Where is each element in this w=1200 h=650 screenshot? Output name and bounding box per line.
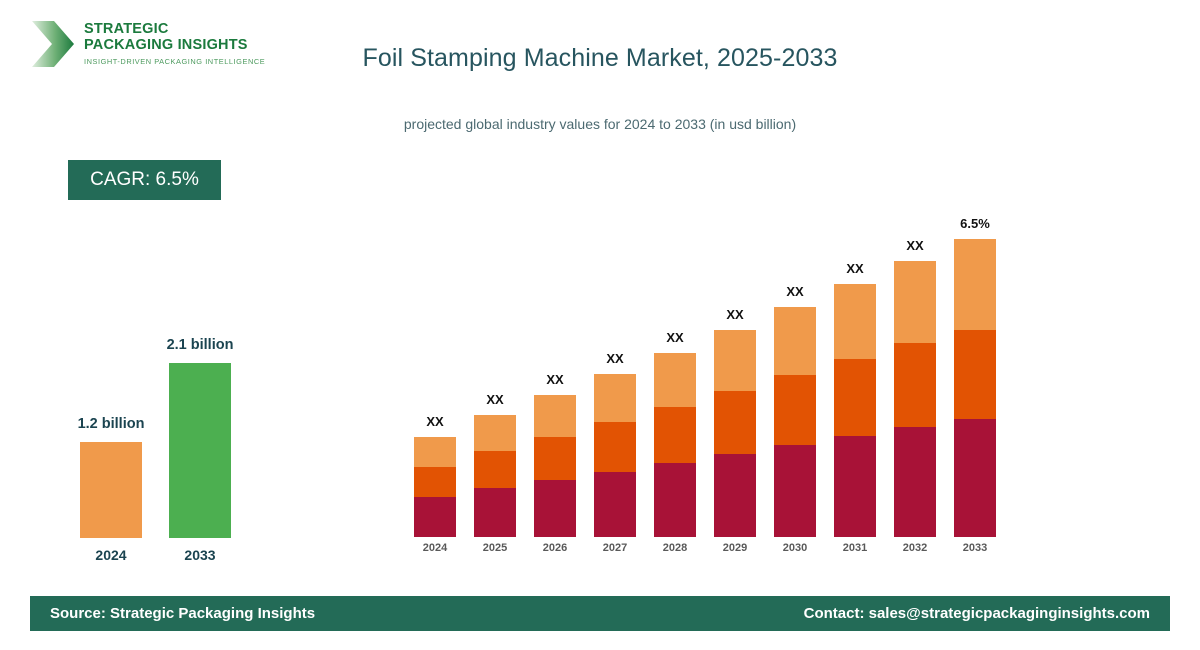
stacked-bar-column: XX: [585, 351, 645, 537]
stacked-bar-segment-mid: [654, 407, 696, 463]
stacked-bar-stack: [834, 284, 876, 537]
stacked-bar-column: XX: [765, 284, 825, 537]
stacked-bar-x-axis: 2024202520262027202820292030203120322033: [405, 537, 1005, 554]
stacked-bar-top-label: XX: [786, 284, 803, 299]
stacked-bar-top-label: XX: [906, 238, 923, 253]
stacked-bar-segment-top: [534, 395, 576, 437]
stacked-bar-stack: [594, 374, 636, 537]
cagr-badge: CAGR: 6.5%: [68, 160, 221, 200]
stacked-bar-segment-bottom: [714, 454, 756, 537]
stacked-bar-stack: [534, 395, 576, 537]
x-axis-tick-label: 2029: [705, 537, 765, 554]
stacked-bar-segment-bottom: [834, 436, 876, 537]
footer-contact: Contact: sales@strategicpackaginginsight…: [804, 605, 1150, 622]
comparison-bar-2024: 1.2 billion 2024: [80, 442, 142, 538]
stacked-bar-segment-bottom: [414, 497, 456, 537]
stacked-bar-stack: [954, 239, 996, 537]
stacked-bar-column: XX: [645, 330, 705, 537]
stacked-bar-segment-mid: [594, 422, 636, 472]
stacked-bar-segment-mid: [414, 467, 456, 497]
stacked-bar-column: XX: [405, 414, 465, 537]
stacked-bar-segment-mid: [834, 359, 876, 436]
stacked-bar-segment-bottom: [654, 463, 696, 537]
stacked-bar-segment-top: [654, 353, 696, 407]
comparison-bar-fill-2033: [169, 363, 231, 538]
stacked-bar-plot-area: XXXXXXXXXXXXXXXXXX6.5%: [405, 200, 1005, 537]
x-axis-tick-label: 2024: [405, 537, 465, 554]
page-title: Foil Stamping Machine Market, 2025-2033: [0, 44, 1200, 73]
stacked-bar-segment-top: [414, 437, 456, 467]
stacked-bar-segment-bottom: [474, 488, 516, 537]
stacked-bar-top-label: XX: [486, 392, 503, 407]
stacked-bar-segment-top: [714, 330, 756, 391]
stacked-bar-top-label: 6.5%: [960, 216, 990, 231]
comparison-label-2024: 2024: [95, 547, 126, 563]
stacked-bar-segment-bottom: [534, 480, 576, 537]
stacked-bar-top-label: XX: [726, 307, 743, 322]
stacked-bar-segment-mid: [774, 375, 816, 445]
stacked-bar-segment-top: [474, 415, 516, 451]
stacked-bar-segment-bottom: [954, 419, 996, 537]
x-axis-tick-label: 2028: [645, 537, 705, 554]
stacked-bar-segment-bottom: [594, 472, 636, 537]
stacked-bar-segment-mid: [894, 343, 936, 427]
stacked-bar-segment-top: [894, 261, 936, 343]
comparison-value-2024: 1.2 billion: [78, 416, 145, 432]
stacked-bar-segment-mid: [534, 437, 576, 480]
x-axis-tick-label: 2027: [585, 537, 645, 554]
stacked-bar-segment-top: [954, 239, 996, 330]
stacked-bar-segment-top: [834, 284, 876, 359]
stacked-bar-top-label: XX: [666, 330, 683, 345]
logo-line-1: STRATEGIC: [84, 22, 265, 38]
comparison-bar-2033: 2.1 billion 2033: [169, 363, 231, 538]
stacked-bar-stack: [714, 330, 756, 537]
x-axis-tick-label: 2031: [825, 537, 885, 554]
stacked-bar-stack: [414, 437, 456, 537]
stacked-bar-segment-top: [594, 374, 636, 422]
stacked-bar-top-label: XX: [846, 261, 863, 276]
comparison-value-2033: 2.1 billion: [167, 337, 234, 353]
stacked-bar-segment-bottom: [894, 427, 936, 537]
stacked-bar-stack: [474, 415, 516, 537]
page-subtitle: projected global industry values for 202…: [0, 116, 1200, 132]
x-axis-tick-label: 2033: [945, 537, 1005, 554]
stacked-bar-segment-mid: [954, 330, 996, 419]
stacked-bar-column: XX: [525, 372, 585, 537]
stacked-bar-segment-bottom: [774, 445, 816, 537]
comparison-chart: 1.2 billion 2024 2.1 billion 2033: [55, 300, 270, 570]
stacked-bar-stack: [654, 353, 696, 537]
stacked-bar-column: XX: [465, 392, 525, 537]
stacked-bar-column: XX: [705, 307, 765, 537]
footer-bar: Source: Strategic Packaging Insights Con…: [30, 596, 1170, 631]
stacked-bar-segment-mid: [714, 391, 756, 454]
x-axis-tick-label: 2032: [885, 537, 945, 554]
stacked-bar-stack: [894, 261, 936, 537]
x-axis-tick-label: 2025: [465, 537, 525, 554]
stacked-bar-segment-top: [774, 307, 816, 375]
stacked-bar-top-label: XX: [426, 414, 443, 429]
x-axis-tick-label: 2026: [525, 537, 585, 554]
stacked-bar-stack: [774, 307, 816, 537]
stacked-bar-column: XX: [825, 261, 885, 537]
comparison-bar-fill-2024: [80, 442, 142, 538]
x-axis-tick-label: 2030: [765, 537, 825, 554]
stacked-bar-segment-mid: [474, 451, 516, 488]
stacked-bar-top-label: XX: [546, 372, 563, 387]
stacked-bar-chart: XXXXXXXXXXXXXXXXXX6.5% 20242025202620272…: [405, 200, 1005, 558]
stacked-bar-column: XX: [885, 238, 945, 537]
stacked-bar-top-label: XX: [606, 351, 623, 366]
footer-source: Source: Strategic Packaging Insights: [50, 605, 315, 622]
comparison-label-2033: 2033: [184, 547, 215, 563]
stacked-bar-column: 6.5%: [945, 216, 1005, 537]
